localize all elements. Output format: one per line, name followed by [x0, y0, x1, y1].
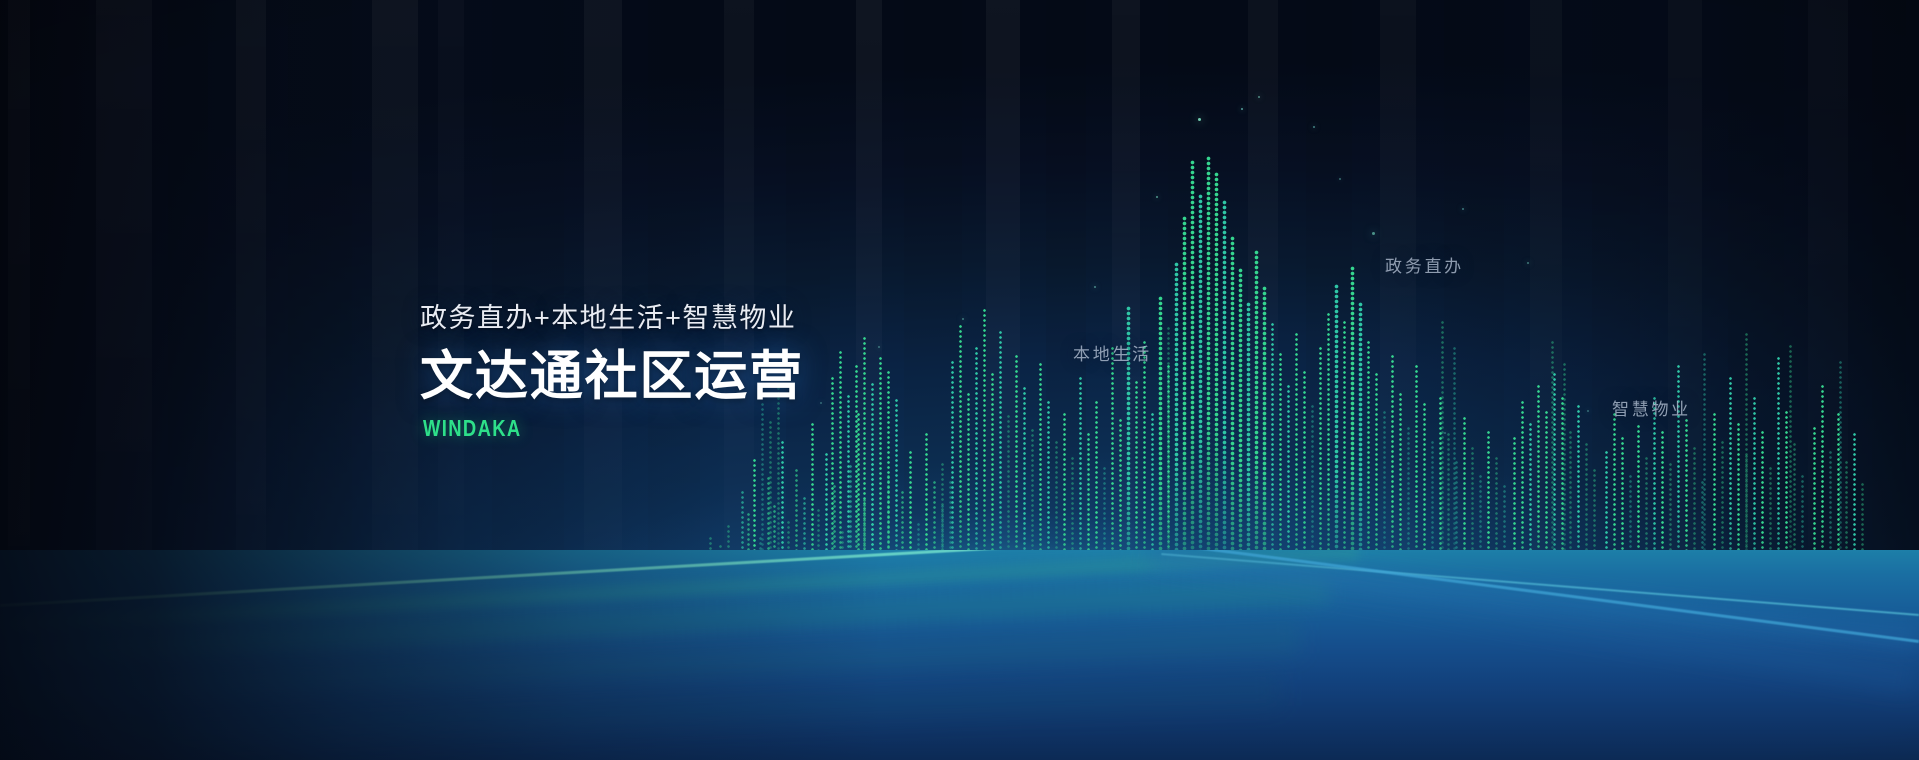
district-label: 本地生活	[1073, 340, 1152, 365]
brand-wordmark: WINDAKA	[423, 415, 728, 442]
ground-left-shadow	[0, 550, 1919, 760]
building-column	[1214, 172, 1219, 608]
headline-block: 政务直办+本地生活+智慧物业 文达通社区运营 WINDAKA	[420, 296, 804, 442]
banner-subtitle: 政务直办+本地生活+智慧物业	[420, 296, 804, 335]
district-label: 政务直办	[1385, 252, 1464, 277]
building-column	[1198, 194, 1203, 608]
banner-title: 文达通社区运营	[420, 348, 804, 405]
promo-banner: 政务直办本地生活智慧物业 政务直办+本地生活+智慧物业 文达通社区运营 WIND…	[0, 0, 1919, 760]
perspective-ground	[0, 550, 1919, 760]
district-label: 智慧物业	[1612, 395, 1691, 420]
building-column	[1190, 160, 1195, 608]
building-column	[1206, 156, 1211, 608]
dot-matrix-skyline	[0, 48, 1919, 608]
building-column	[1222, 200, 1227, 608]
